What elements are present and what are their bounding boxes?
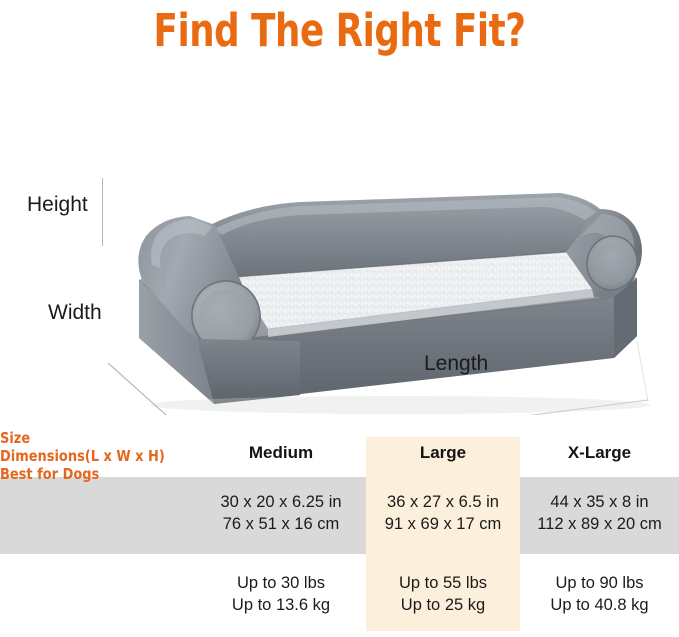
large-dimensions-cm: 91 x 69 x 17 cm [366, 513, 520, 535]
large-weight-lbs: Up to 55 lbs [366, 572, 520, 594]
xlarge-weight-lbs: Up to 90 lbs [520, 572, 679, 594]
medium-weight-kg: Up to 13.6 kg [196, 594, 366, 616]
callout-length: Length [424, 352, 488, 376]
medium-dimensions-inches: 30 x 20 x 6.25 in [196, 491, 366, 513]
size-chart-table: Size Dimensions(L x W x H) Best for Dogs… [0, 429, 679, 637]
cell-xlarge-weight: Up to 90 lbs Up to 40.8 kg [520, 572, 679, 617]
row-label-best-for-dogs: Best for Dogs [0, 465, 631, 483]
page-title: Find The Right Fit? [41, 4, 639, 57]
size-guide-infographic: Find The Right Fit? [0, 0, 679, 637]
column-header-medium[interactable]: Medium [196, 443, 366, 463]
medium-weight-lbs: Up to 30 lbs [196, 572, 366, 594]
cell-xlarge-dimensions: 44 x 35 x 8 in 112 x 89 x 20 cm [520, 491, 679, 536]
callout-width: Width [48, 301, 102, 325]
callout-height: Height [27, 193, 88, 217]
cell-medium-dimensions: 30 x 20 x 6.25 in 76 x 51 x 16 cm [196, 491, 366, 536]
product-illustration [0, 105, 679, 415]
dog-bed-graphic [0, 105, 679, 415]
xlarge-dimensions-inches: 44 x 35 x 8 in [520, 491, 679, 513]
xlarge-dimensions-cm: 112 x 89 x 20 cm [520, 513, 679, 535]
xlarge-weight-kg: Up to 40.8 kg [520, 594, 679, 616]
cell-medium-weight: Up to 30 lbs Up to 13.6 kg [196, 572, 366, 617]
column-header-xlarge[interactable]: X-Large [520, 443, 679, 463]
medium-dimensions-cm: 76 x 51 x 16 cm [196, 513, 366, 535]
large-dimensions-inches: 36 x 27 x 6.5 in [366, 491, 520, 513]
cell-large-dimensions: 36 x 27 x 6.5 in 91 x 69 x 17 cm [366, 491, 520, 536]
large-weight-kg: Up to 25 kg [366, 594, 520, 616]
cell-large-weight: Up to 55 lbs Up to 25 kg [366, 572, 520, 617]
height-leader-line [102, 178, 103, 246]
column-header-large[interactable]: Large [366, 443, 520, 463]
